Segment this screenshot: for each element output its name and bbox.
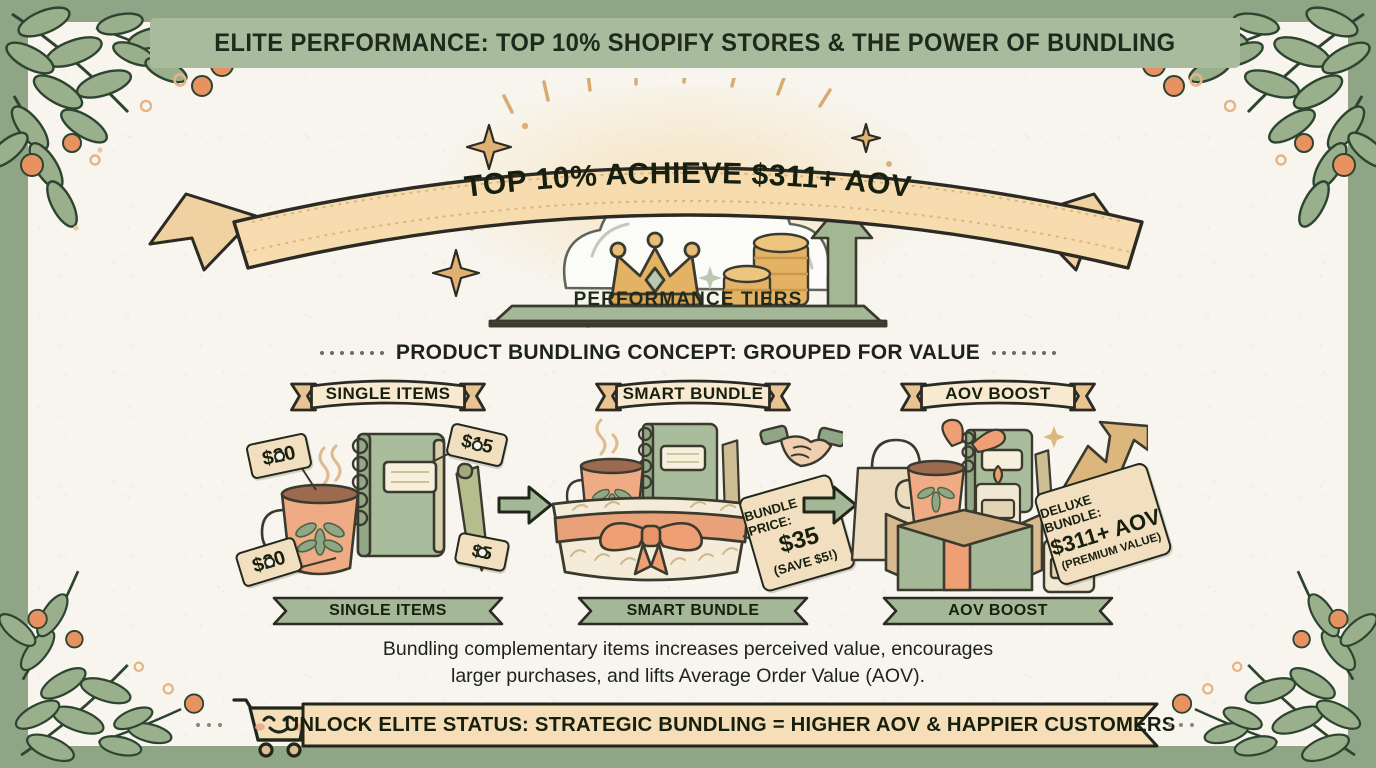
ribbon-single-items-label: SINGLE ITEMS xyxy=(286,376,491,416)
body-description: Bundling complementary items increases p… xyxy=(338,636,1038,690)
footer-dots-right xyxy=(1168,723,1194,727)
ribbon-single-items: SINGLE ITEMS xyxy=(286,376,491,416)
svg-text:TOP 10% ACHIEVE $311+ AOV: TOP 10% ACHIEVE $311+ AOV xyxy=(463,157,913,204)
ribbon-aov-boost-label: AOV BOOST xyxy=(896,376,1101,416)
body-line-1: Bundling complementary items increases p… xyxy=(338,636,1038,663)
footer-banner-text: UNLOCK ELITE STATUS: STRATEGIC BUNDLING … xyxy=(304,701,1155,749)
dotted-connector-left xyxy=(320,351,384,355)
ribbon-smart-bundle: SMART BUNDLE xyxy=(591,376,796,416)
dotted-connector-right xyxy=(992,351,1056,355)
footer-banner-aov-boost-label: AOV BOOST xyxy=(882,596,1114,626)
ribbon-smart-bundle-label: SMART BUNDLE xyxy=(591,376,796,416)
ribbon-aov-boost: AOV BOOST xyxy=(896,376,1101,416)
page-title: ELITE PERFORMANCE: TOP 10% SHOPIFY STORE… xyxy=(214,29,1175,58)
footer-banner-smart-bundle-label: SMART BUNDLE xyxy=(577,596,809,626)
footer-banner-single-items-label: SINGLE ITEMS xyxy=(272,596,504,626)
footer-banner-single-items: SINGLE ITEMS xyxy=(272,596,504,626)
stage-smart-bundle: SMART BUNDLE xyxy=(543,376,843,626)
hero-glow xyxy=(438,86,938,301)
section-header: PRODUCT BUNDLING CONCEPT: GROUPED FOR VA… xyxy=(0,336,1376,370)
section-title: PRODUCT BUNDLING CONCEPT: GROUPED FOR VA… xyxy=(396,341,980,365)
footer-section: UNLOCK ELITE STATUS: STRATEGIC BUNDLING … xyxy=(0,696,1376,762)
footer-banner-aov-boost: AOV BOOST xyxy=(882,596,1114,626)
stage-aov-boost: AOV BOOST xyxy=(848,376,1148,626)
performance-tier-label: PERFORMANCE TIERS xyxy=(508,283,868,317)
hero-section: TOP 10% ACHIEVE $311+ AOV PERFORMANCE TI… xyxy=(0,78,1376,328)
page-title-bar: ELITE PERFORMANCE: TOP 10% SHOPIFY STORE… xyxy=(150,18,1240,68)
body-line-2: larger purchases, and lifts Average Orde… xyxy=(338,663,1038,690)
footer-dots-left xyxy=(196,723,222,727)
stage-single-items: SINGLE ITEMS xyxy=(238,376,538,626)
footer-banner-smart-bundle: SMART BUNDLE xyxy=(577,596,809,626)
